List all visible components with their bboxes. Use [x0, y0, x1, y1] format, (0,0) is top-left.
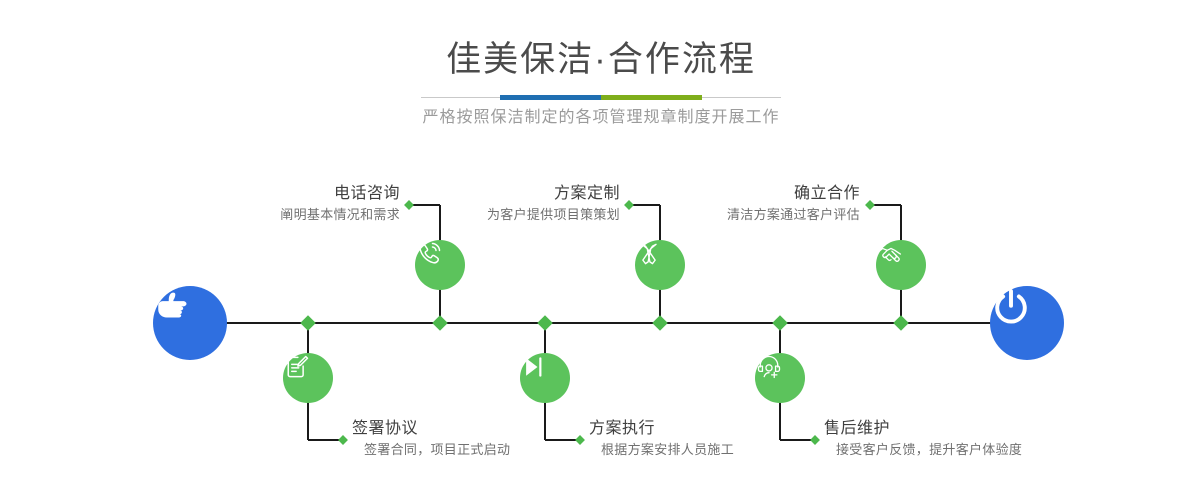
flow-start-node[interactable]: [153, 286, 227, 360]
step-title-4: 方案执行: [589, 418, 849, 440]
step-icon-1[interactable]: [415, 240, 465, 290]
step-icon-6[interactable]: [755, 353, 805, 403]
step-desc-3: 为客户提供项目策策划: [420, 205, 620, 225]
flow-diagram-page: 佳美保洁·合作流程 严格按照保洁制定的各项管理规章制度开展工作: [0, 0, 1202, 502]
step-label-5: 确立合作 清洁方案通过客户评估: [655, 183, 860, 225]
step-label-6: 售后维护 接受客户反馈，提升客户体验度: [824, 418, 1104, 460]
step-desc-1: 阐明基本情况和需求: [200, 205, 400, 225]
step-icon-4[interactable]: [520, 353, 570, 403]
step-icon-5[interactable]: [876, 240, 926, 290]
step-label-3: 方案定制 为客户提供项目策策划: [420, 183, 620, 225]
step-desc-6: 接受客户反馈，提升客户体验度: [824, 440, 1104, 460]
step-label-2: 签署协议 签署合同，项目正式启动: [352, 418, 612, 460]
step-title-2: 签署协议: [352, 418, 612, 440]
step-label-1: 电话咨询 阐明基本情况和需求: [200, 183, 400, 225]
step-title-6: 售后维护: [824, 418, 1104, 440]
step-icon-2[interactable]: [283, 353, 333, 403]
step-title-3: 方案定制: [420, 183, 620, 205]
step-desc-5: 清洁方案通过客户评估: [655, 205, 860, 225]
step-title-5: 确立合作: [655, 183, 860, 205]
step-desc-2: 签署合同，项目正式启动: [352, 440, 612, 460]
step-label-4: 方案执行 根据方案安排人员施工: [589, 418, 849, 460]
process-flow: 电话咨询 阐明基本情况和需求 方案定制 为客户提供项目策策划: [0, 0, 1202, 502]
step-title-1: 电话咨询: [200, 183, 400, 205]
flow-end-node[interactable]: [990, 286, 1064, 360]
step-desc-4: 根据方案安排人员施工: [589, 440, 849, 460]
step-icon-3[interactable]: [635, 240, 685, 290]
